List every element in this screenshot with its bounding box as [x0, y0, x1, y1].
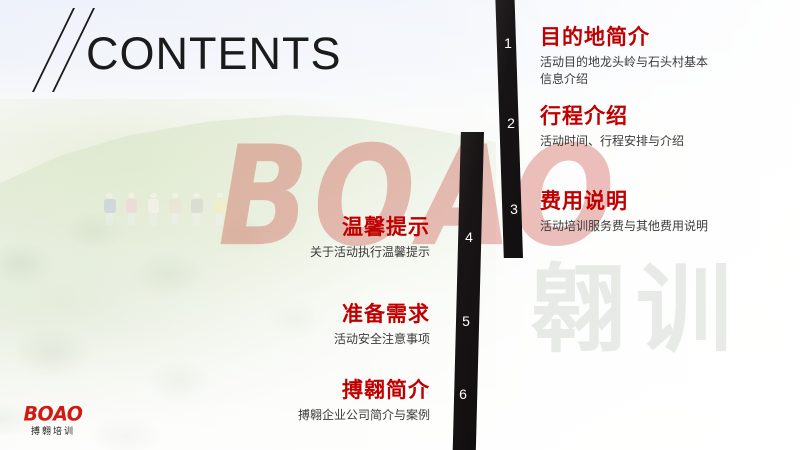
toc-entry-3-title: 费用说明: [540, 190, 708, 213]
toc-entry-2[interactable]: 行程介绍 活动时间、行程安排与介绍: [540, 105, 684, 150]
toc-entry-2-subtitle: 活动时间、行程安排与介绍: [540, 133, 684, 150]
toc-entry-4-subtitle: 关于活动执行温馨提示: [170, 244, 430, 261]
toc-entry-1-title: 目的地简介: [540, 26, 708, 49]
slide-canvas: BOAO 翱训 CONTENTS 1 2 3 4 5 6 目的地简介 活动目的地…: [0, 0, 800, 450]
toc-entry-4[interactable]: 温馨提示 关于活动执行温馨提示: [170, 216, 430, 261]
toc-entry-4-title: 温馨提示: [170, 216, 430, 239]
toc-entry-5[interactable]: 准备需求 活动安全注意事项: [170, 303, 430, 348]
contents-header: CONTENTS: [0, 0, 430, 104]
toc-entry-5-subtitle: 活动安全注意事项: [170, 331, 430, 348]
toc-entry-2-title: 行程介绍: [540, 105, 684, 128]
toc-entry-3[interactable]: 费用说明 活动培训服务费与其他费用说明: [540, 190, 708, 235]
bar-number-3: 3: [502, 201, 526, 217]
bar-number-6: 6: [451, 386, 475, 402]
bar-number-4: 4: [457, 229, 481, 245]
toc-entry-1[interactable]: 目的地简介 活动目的地龙头岭与石头村基本 信息介绍: [540, 26, 708, 89]
page-title: CONTENTS: [86, 28, 342, 80]
logo-mark: BOAO: [16, 405, 90, 425]
toc-entry-5-title: 准备需求: [170, 303, 430, 326]
toc-entry-6-subtitle: 搏翱企业公司简介与案例: [170, 407, 430, 424]
toc-entry-3-subtitle: 活动培训服务费与其他费用说明: [540, 218, 708, 235]
toc-entry-6[interactable]: 搏翱简介 搏翱企业公司简介与案例: [170, 379, 430, 424]
bar-number-2: 2: [499, 115, 523, 131]
toc-entry-6-title: 搏翱简介: [170, 379, 430, 402]
logo-chinese-name: 搏翱培训: [16, 427, 90, 436]
bar-number-5: 5: [454, 313, 478, 329]
toc-entry-1-subtitle: 活动目的地龙头岭与石头村基本 信息介绍: [540, 54, 708, 89]
bar-number-1: 1: [496, 35, 520, 51]
slash-decoration-icon: [22, 8, 80, 92]
company-logo: BOAO 搏翱培训: [16, 405, 90, 436]
